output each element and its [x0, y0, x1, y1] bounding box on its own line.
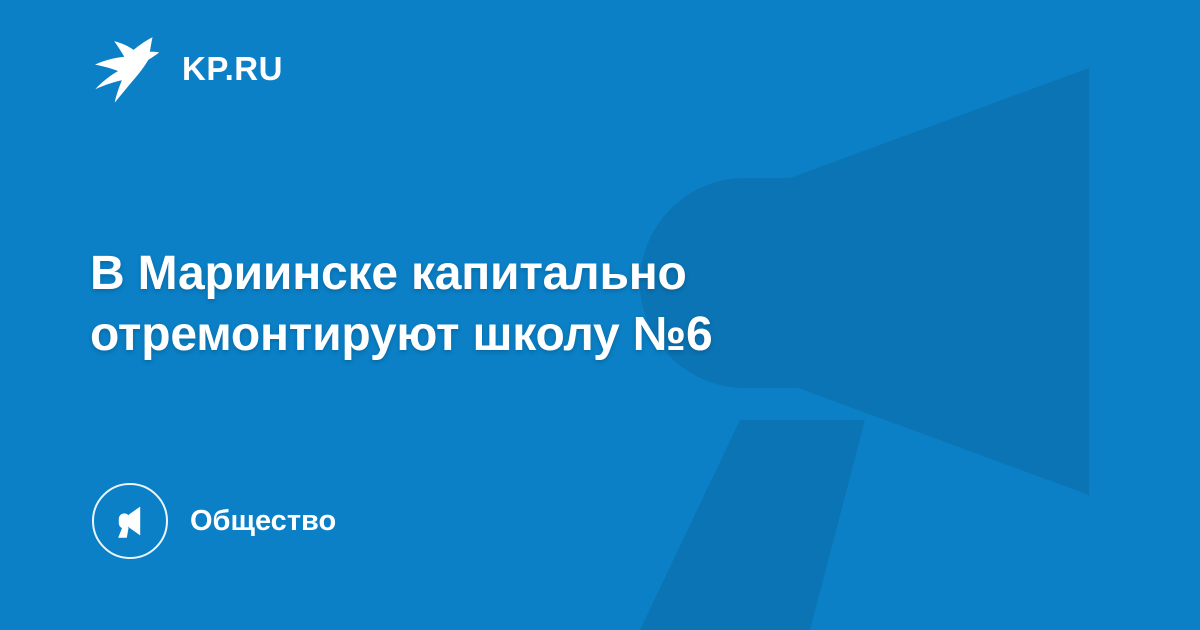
social-share-card: KP.RU В Мариинске капитально отремонтиру… [0, 0, 1200, 630]
brand-logo[interactable]: KP.RU [92, 33, 283, 103]
headline-line-2: отремонтируют школу №6 [90, 305, 950, 366]
brand-name: KP.RU [182, 52, 283, 85]
category-badge[interactable]: Общество [92, 483, 336, 559]
category-icon-circle [92, 483, 168, 559]
category-label: Общество [190, 507, 336, 536]
swallow-bird-icon [92, 33, 164, 103]
headline-line-1: В Мариинске капитально [90, 244, 950, 305]
page-title: В Мариинске капитально отремонтируют шко… [90, 244, 950, 366]
megaphone-icon [110, 501, 150, 541]
